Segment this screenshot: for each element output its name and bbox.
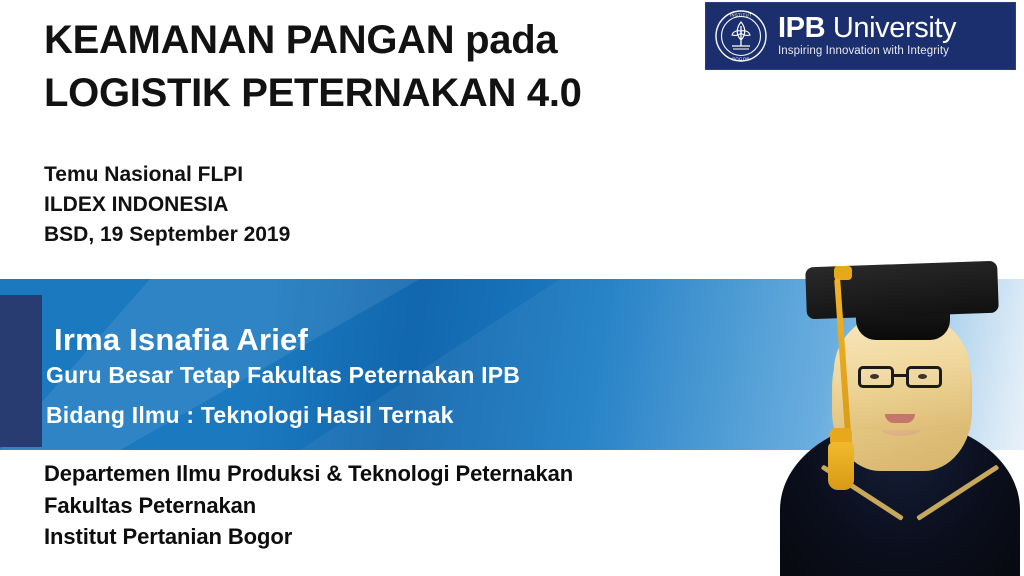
speaker-field: Bidang Ilmu : Teknologi Hasil Ternak	[46, 402, 454, 429]
portrait-glasses-icon	[856, 366, 948, 388]
presentation-slide: INSTITUT BOGOR IPB University Inspiring …	[0, 0, 1024, 576]
event-line-1: Temu Nasional FLPI	[44, 160, 290, 190]
slide-title: KEAMANAN PANGAN pada LOGISTIK PETERNAKAN…	[44, 14, 704, 120]
ipb-seal-icon: INSTITUT BOGOR	[714, 9, 768, 63]
slide-title-line-2: LOGISTIK PETERNAKAN 4.0	[44, 67, 704, 120]
affiliation-block: Departemen Ilmu Produksi & Teknologi Pet…	[44, 458, 573, 553]
logo-name-bold: IPB	[778, 12, 825, 44]
ipb-university-logo: INSTITUT BOGOR IPB University Inspiring …	[705, 2, 1016, 70]
banner-navy-accent-block	[0, 295, 42, 447]
event-details: Temu Nasional FLPI ILDEX INDONESIA BSD, …	[44, 160, 290, 251]
slide-title-line-1: KEAMANAN PANGAN pada	[44, 14, 704, 67]
logo-name-light: University	[833, 12, 956, 44]
portrait-tassel-fringe	[828, 442, 854, 490]
logo-wordmark: IPB University Inspiring Innovation with…	[778, 14, 956, 58]
speaker-portrait	[770, 250, 1024, 576]
event-line-3: BSD, 19 September 2019	[44, 220, 290, 250]
svg-text:BOGOR: BOGOR	[732, 57, 750, 62]
event-line-2: ILDEX INDONESIA	[44, 190, 290, 220]
speaker-role: Guru Besar Tetap Fakultas Peternakan IPB	[46, 362, 520, 389]
affiliation-line-3: Institut Pertanian Bogor	[44, 521, 573, 553]
affiliation-line-1: Departemen Ilmu Produksi & Teknologi Pet…	[44, 458, 573, 490]
portrait-glasses-bridge	[894, 374, 906, 377]
svg-text:INSTITUT: INSTITUT	[730, 13, 752, 18]
logo-tagline: Inspiring Innovation with Integrity	[778, 46, 956, 58]
logo-title: IPB University	[778, 14, 956, 43]
portrait-lens-right	[906, 366, 942, 388]
portrait-mouth	[885, 414, 915, 423]
speaker-name: Irma Isnafia Arief	[54, 322, 308, 358]
affiliation-line-2: Fakultas Peternakan	[44, 490, 573, 522]
portrait-lens-left	[858, 366, 894, 388]
